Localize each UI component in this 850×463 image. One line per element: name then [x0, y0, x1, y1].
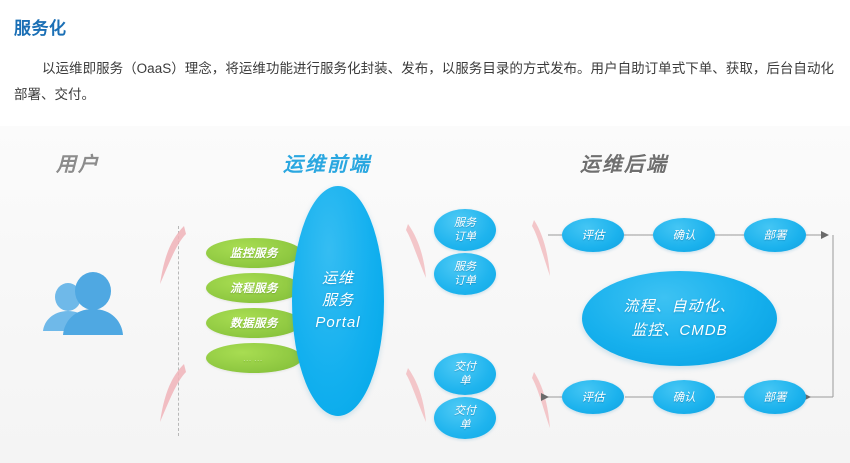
backend-stage-assess-top[interactable]: 评估	[562, 218, 624, 252]
service-order-node-1[interactable]: 服务 订单	[434, 209, 496, 251]
portal-line-1: 运维	[322, 268, 354, 290]
flow-arrow-to-backend	[530, 218, 552, 283]
ops-service-portal[interactable]: 运维 服务 Portal	[292, 186, 384, 416]
flow-arrow-delivery-out	[404, 366, 428, 429]
service-catalog-label: 流程服务	[230, 280, 278, 296]
backend-stage-confirm-top[interactable]: 确认	[653, 218, 715, 252]
service-catalog-label: 监控服务	[230, 245, 278, 261]
stage-label: 部署	[764, 227, 787, 243]
backend-core-capability[interactable]: 流程、自动化、 监控、CMDB	[582, 271, 777, 366]
column-heading-backend: 运维后端	[580, 148, 668, 177]
service-order-node-2[interactable]: 服务 订单	[434, 253, 496, 295]
backend-stage-deploy-top[interactable]: 部署	[744, 218, 806, 252]
service-catalog-label: ……	[243, 353, 265, 363]
intro-paragraph: 以运维即服务（OaaS）理念，将运维功能进行服务化封装、发布，以服务目录的方式发…	[14, 56, 834, 108]
flow-arrow-order-out	[404, 222, 428, 285]
flow-arrow-from-backend	[530, 370, 552, 435]
order-line-1: 服务	[454, 216, 476, 230]
stage-label: 确认	[673, 227, 696, 243]
core-line-2: 监控、CMDB	[631, 319, 727, 343]
delivery-order-node-1[interactable]: 交付 单	[434, 353, 496, 395]
portal-line-3: Portal	[315, 312, 360, 334]
service-architecture-diagram: 用户 运维前端 运维后端 监控服务 流程服务 数据服务	[0, 126, 850, 463]
order-line-1: 服务	[454, 260, 476, 274]
stage-label: 评估	[582, 227, 605, 243]
backend-stage-confirm-bottom[interactable]: 确认	[653, 380, 715, 414]
stage-label: 部署	[764, 389, 787, 405]
service-catalog-item-process[interactable]: 流程服务	[206, 273, 302, 303]
core-line-1: 流程、自动化、	[623, 295, 735, 319]
portal-line-2: 服务	[322, 290, 354, 312]
service-catalog-item-more[interactable]: ……	[206, 343, 302, 373]
service-catalog-item-monitoring[interactable]: 监控服务	[206, 238, 302, 268]
order-line-2: 订单	[454, 274, 476, 288]
backend-stage-deploy-bottom[interactable]: 部署	[744, 380, 806, 414]
stage-label: 确认	[673, 389, 696, 405]
column-heading-frontend: 运维前端	[283, 148, 371, 177]
delivery-order-node-2[interactable]: 交付 单	[434, 397, 496, 439]
column-heading-user: 用户	[56, 148, 100, 177]
order-line-1: 交付	[454, 360, 476, 374]
backend-stage-assess-bottom[interactable]: 评估	[562, 380, 624, 414]
order-line-2: 订单	[454, 230, 476, 244]
stage-label: 评估	[582, 389, 605, 405]
page-title: 服务化	[14, 14, 67, 39]
order-line-1: 交付	[454, 404, 476, 418]
flow-arrow-user-receive	[158, 362, 188, 429]
service-catalog-label: 数据服务	[230, 315, 278, 331]
service-catalog-item-data[interactable]: 数据服务	[206, 308, 302, 338]
order-line-2: 单	[460, 418, 471, 432]
users-icon	[36, 271, 132, 341]
order-line-2: 单	[460, 374, 471, 388]
flow-arrow-user-request	[158, 224, 188, 291]
